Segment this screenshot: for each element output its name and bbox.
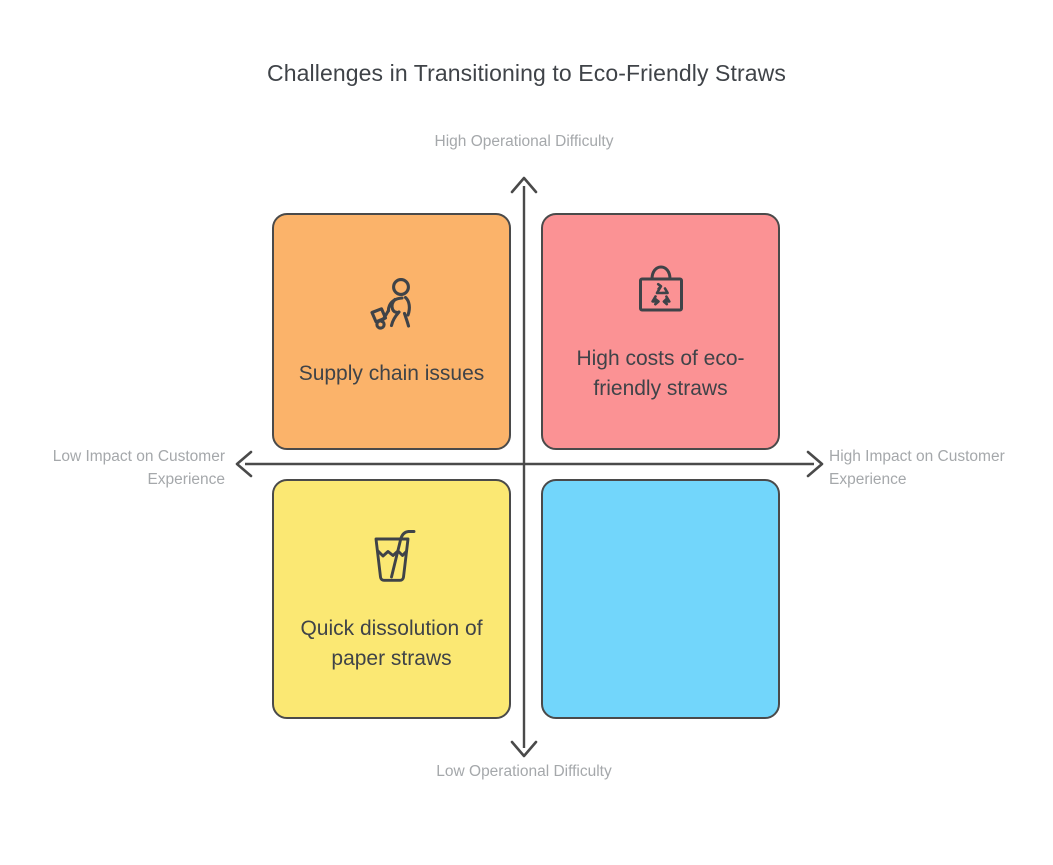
page-title: Challenges in Transitioning to Eco-Frien… bbox=[0, 60, 1053, 87]
axis-arrow-down-icon bbox=[512, 742, 536, 756]
quadrant-label-quick-dissolution: Quick dissolution of paper straws bbox=[274, 614, 509, 674]
shopping-bag-recycle-icon bbox=[632, 260, 690, 318]
axis-arrow-left-icon bbox=[237, 452, 251, 476]
axis-label-left: Low Impact on Customer Experience bbox=[15, 445, 225, 491]
quadrant-card-empty[interactable] bbox=[541, 479, 780, 719]
quadrant-label-high-costs: High costs of eco-friendly straws bbox=[543, 344, 778, 404]
quadrant-card-quick-dissolution[interactable]: Quick dissolution of paper straws bbox=[272, 479, 511, 719]
axis-arrow-up-icon bbox=[512, 178, 536, 192]
person-pushing-hand-truck-icon bbox=[361, 275, 423, 337]
axis-label-right: High Impact on Customer Experience bbox=[829, 445, 1044, 491]
quadrant-card-supply-chain[interactable]: Supply chain issues bbox=[272, 213, 511, 450]
axis-label-bottom: Low Operational Difficulty bbox=[424, 760, 624, 783]
quadrant-label-supply-chain: Supply chain issues bbox=[287, 359, 497, 389]
axis-label-top: High Operational Difficulty bbox=[424, 130, 624, 153]
axis-arrow-right-icon bbox=[808, 452, 822, 476]
drink-glass-straw-icon bbox=[363, 524, 421, 584]
quadrant-card-high-costs[interactable]: High costs of eco-friendly straws bbox=[541, 213, 780, 450]
